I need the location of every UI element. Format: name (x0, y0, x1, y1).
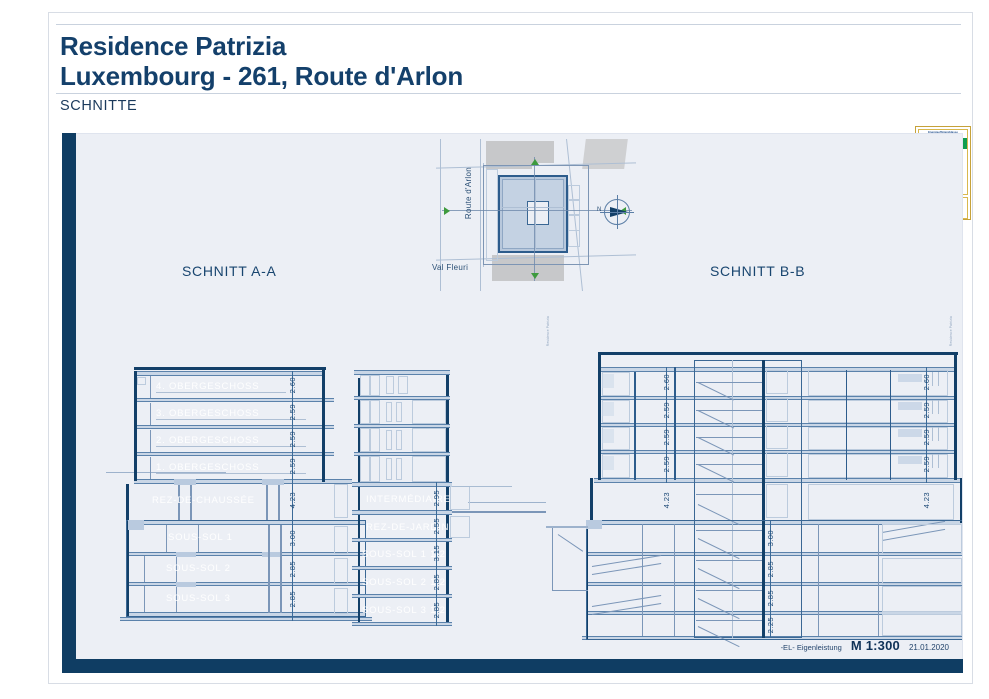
dimension-value: 2.85 (288, 591, 297, 607)
frame-navy-bottom-bar (62, 659, 963, 673)
schnitt-bb-drawing: 2.60 2.59 2.59 2.59 4.23 (546, 134, 963, 659)
dimension-value: 3.15 (432, 545, 441, 561)
dimension-value: 4.23 (662, 492, 671, 508)
title-line-2: Luxembourg - 261, Route d'Arlon (60, 61, 961, 91)
floor-label: SOUS-SOL 2 (166, 563, 231, 574)
title-block-scale: M 1:300 (851, 638, 900, 653)
dimension-value: 2.59 (288, 458, 297, 474)
dimension-value: 2.60 (922, 374, 931, 390)
floor-label: SOUS-SOL 1 (168, 532, 233, 543)
dimension-value: 2.95 (432, 490, 441, 506)
dimension-value: 2.85 (432, 574, 441, 590)
dimension-value: 2.59 (922, 402, 931, 418)
floor-label: REZ-DE-CHAUSSÉE (152, 495, 255, 506)
dimension-value: 2.85 (432, 602, 441, 618)
dimension-value: 2.60 (662, 374, 671, 390)
dimension-value: 2.60 (288, 377, 297, 393)
frame-navy-left-bar (62, 133, 76, 673)
dimension-value: 3.00 (288, 530, 297, 546)
dimension-value: 2.59 (288, 431, 297, 447)
dimension-value: 2.59 (662, 402, 671, 418)
title-block-date: 21.01.2020 (909, 643, 949, 652)
dimension-value: 4.23 (922, 492, 931, 508)
dimension-value: 2.59 (662, 456, 671, 472)
floor-label: 1. OBERGESCHOSS (156, 462, 259, 473)
floor-label: SOUS-SOL 3 (166, 593, 231, 604)
floor-label: 4. OBERGESCHOSS (156, 381, 259, 392)
page-title: Residence Patrizia Luxembourg - 261, Rou… (56, 25, 961, 93)
title-block: -EL- Eigenleistung M 1:300 21.01.2020 (781, 638, 949, 653)
drawing-canvas: N Route d'Arlon Val Fleuri SCHNITT A-A S… (76, 133, 963, 659)
sheet-header: Residence Patrizia Luxembourg - 261, Rou… (56, 24, 961, 119)
dimension-value: 2.85 (288, 561, 297, 577)
dimension-value: 2.55 (432, 518, 441, 534)
dimension-value: 2.59 (922, 456, 931, 472)
sheet-subtitle: SCHNITTE (56, 94, 961, 119)
floor-label: 2. OBERGESCHOSS (156, 435, 259, 446)
title-line-1: Residence Patrizia (60, 31, 961, 61)
dimension-value: 2.59 (922, 429, 931, 445)
dimension-value: 2.59 (662, 429, 671, 445)
floor-label: 3. OBERGESCHOSS (156, 408, 259, 419)
dimension-value: 2.59 (288, 404, 297, 420)
title-block-note: -EL- Eigenleistung (781, 643, 842, 652)
drawing-sheet: Residence Patrizia Luxembourg - 261, Rou… (0, 0, 989, 699)
drawing-frame: N Route d'Arlon Val Fleuri SCHNITT A-A S… (56, 133, 963, 673)
schnitt-aa-drawing: 4. OBERGESCHOSS 3. OBERGESCHOSS 2. OBERG… (76, 134, 546, 659)
dimension-value: 4.23 (288, 492, 297, 508)
